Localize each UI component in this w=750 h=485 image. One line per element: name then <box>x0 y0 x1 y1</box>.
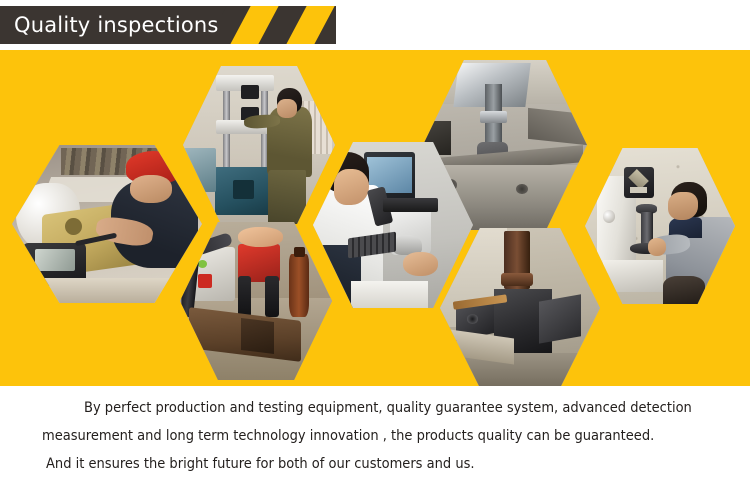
page-title: Quality inspections <box>14 12 219 38</box>
header-bar: Quality inspections <box>0 6 336 44</box>
hazard-stripes <box>222 6 336 44</box>
caption-line-3: And it ensures the bright future for bot… <box>46 456 475 472</box>
caption-block: By perfect production and testing equipm… <box>0 386 750 485</box>
caption-line-1: By perfect production and testing equipm… <box>84 400 692 416</box>
quality-inspections-banner: Quality inspections <box>0 0 750 485</box>
caption-line-2: measurement and long term technology inn… <box>42 428 654 444</box>
